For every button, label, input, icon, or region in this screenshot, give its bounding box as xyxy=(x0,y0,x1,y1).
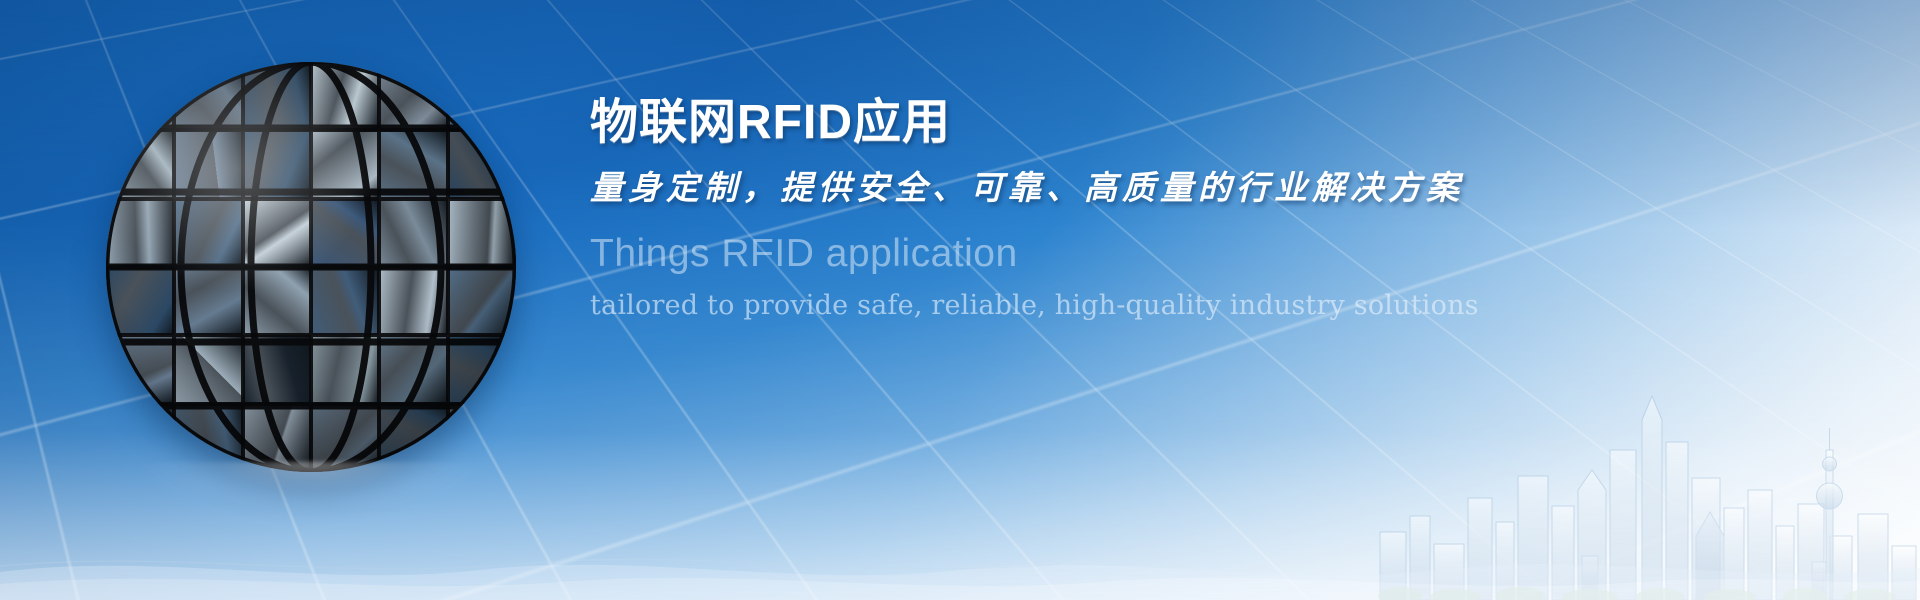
iot-photo-globe xyxy=(96,58,526,498)
banner-english-tagline: tailored to provide safe, reliable, high… xyxy=(590,290,1890,322)
globe-tile xyxy=(174,267,242,335)
globe-tile xyxy=(106,199,174,267)
globe-tile xyxy=(174,62,242,130)
water-ripple-band xyxy=(0,530,1920,600)
globe-tile xyxy=(379,267,447,335)
globe-tile xyxy=(243,62,311,130)
globe-tile xyxy=(448,62,516,130)
globe-photo-tiles xyxy=(106,62,516,472)
banner-headline: 物联网RFID应用 xyxy=(590,96,1890,150)
globe-tile xyxy=(448,130,516,198)
globe-tile xyxy=(106,62,174,130)
globe-tile xyxy=(311,267,379,335)
globe-tile xyxy=(379,199,447,267)
globe-tile xyxy=(243,335,311,403)
globe-tile xyxy=(448,199,516,267)
globe-tile xyxy=(174,130,242,198)
globe-tile xyxy=(243,130,311,198)
promo-banner: 物联网RFID应用 量身定制，提供安全、可靠、高质量的行业解决方案 Things… xyxy=(0,0,1920,600)
banner-tagline: 量身定制，提供安全、可靠、高质量的行业解决方案 xyxy=(590,168,1890,208)
banner-copy: 物联网RFID应用 量身定制，提供安全、可靠、高质量的行业解决方案 Things… xyxy=(590,96,1890,323)
globe-tile xyxy=(311,199,379,267)
globe-sphere xyxy=(106,62,516,472)
banner-english-headline: Things RFID application xyxy=(590,233,1890,276)
globe-tile xyxy=(106,267,174,335)
globe-tile xyxy=(106,130,174,198)
city-skyline-silhouette xyxy=(1360,300,1920,600)
globe-tile xyxy=(311,130,379,198)
globe-tile xyxy=(311,335,379,403)
globe-tile xyxy=(379,62,447,130)
globe-tile xyxy=(243,267,311,335)
globe-tile xyxy=(106,335,174,403)
globe-reflection xyxy=(136,462,486,536)
globe-tile xyxy=(311,62,379,130)
globe-tile xyxy=(174,335,242,403)
globe-tile xyxy=(448,335,516,403)
globe-tile xyxy=(174,199,242,267)
globe-tile xyxy=(379,130,447,198)
globe-tile xyxy=(243,199,311,267)
globe-tile xyxy=(379,335,447,403)
globe-tile xyxy=(448,267,516,335)
